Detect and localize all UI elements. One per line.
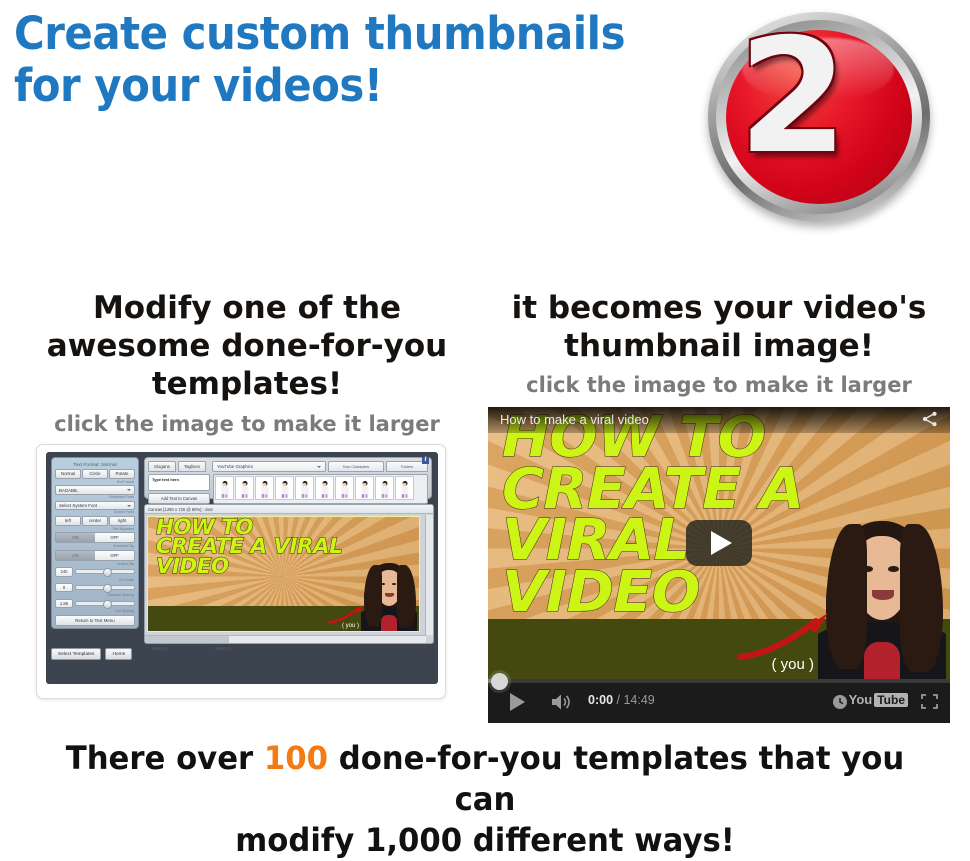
text-format-panel: Text Format: Normal Normal Circle Rotate… xyxy=(51,457,139,629)
horizontal-flip-toggle[interactable]: ON OFF xyxy=(55,532,135,543)
youtube-logo-you: You xyxy=(849,692,873,707)
toolbar-main-row: Type text here. Add Text to Canvas xyxy=(148,474,428,504)
play-triangle-icon xyxy=(711,531,732,555)
line-spacing-label: Line Spacing xyxy=(55,609,134,613)
toon-thumbnail[interactable] xyxy=(355,476,374,500)
char-spacing-knob[interactable] xyxy=(103,584,112,593)
right-column-subtext: click the image to make it larger xyxy=(486,373,952,397)
canvas-text-line-3: VIDEO xyxy=(156,557,342,576)
youtube-video-stage[interactable]: HOW TO CREATE A VIRAL VIDEO ( you ) xyxy=(488,407,950,679)
bottom-line-1: There over 100 done-for-you templates th… xyxy=(39,738,932,820)
line-spacing-knob[interactable] xyxy=(103,600,112,609)
bottom-line-2: modify 1,000 different ways! xyxy=(39,820,932,861)
software-toolbar: f Slogans Taglines YouTube Graphics Toon… xyxy=(144,457,432,499)
vertical-flip-toggle[interactable]: ON OFF xyxy=(55,550,135,561)
right-column-heading: it becomes your video's thumbnail image! xyxy=(486,290,952,366)
embedded-font-select[interactable]: BADABB.. xyxy=(55,485,135,495)
software-window[interactable]: Text Format: Normal Normal Circle Rotate… xyxy=(46,452,438,684)
embedded-font-label: Embedded Fonts xyxy=(55,495,134,499)
home-button[interactable]: Home xyxy=(105,648,132,660)
badge-number-label: 2 xyxy=(700,10,886,192)
system-font-label: System Fonts xyxy=(55,510,134,514)
horizontal-flip-label: Horizontal Flip xyxy=(55,544,134,548)
char-spacing-slider-row[interactable]: 0 xyxy=(55,583,135,592)
alignment-button-group: left center right xyxy=(55,516,135,526)
left-column-subtext: click the image to make it larger xyxy=(22,412,472,436)
text-input[interactable]: Type text here. xyxy=(148,474,210,491)
align-left-button[interactable]: left xyxy=(55,516,81,526)
time-separator: / xyxy=(613,693,623,707)
toon-thumbnail[interactable] xyxy=(275,476,294,500)
duration: 14:49 xyxy=(623,693,654,707)
add-text-to-canvas-button[interactable]: Add Text to Canvas xyxy=(148,493,210,504)
toon-thumbnail[interactable] xyxy=(235,476,254,500)
page-headline: Create custom thumbnails for your videos… xyxy=(14,8,646,112)
left-heading-line-2: awesome done-for-you xyxy=(22,328,472,366)
presenter-photo xyxy=(361,559,417,631)
volume-icon[interactable] xyxy=(550,693,572,711)
canvas-red-arrow-icon xyxy=(325,603,367,625)
vflip-on-option[interactable]: ON xyxy=(56,551,95,560)
bottom-part-1: There over xyxy=(66,739,264,777)
vertical-flip-label: Vertical Flip xyxy=(55,562,134,566)
software-status-bar: Undo: 8 Redo: 0 xyxy=(144,646,432,651)
canvas-title-bar: Canvas [1280 x 720 @ 80%] : viral xyxy=(145,505,433,514)
tab-toon-characters[interactable]: Toon Characters xyxy=(328,461,384,472)
text-scale-knob[interactable] xyxy=(103,568,112,577)
text-scale-label: Text Scale xyxy=(55,578,134,582)
canvas-you-caption: ( you ) xyxy=(342,623,359,629)
toon-character-strip[interactable] xyxy=(213,474,428,504)
return-to-text-menu-button[interactable]: Return to Text Menu xyxy=(55,615,135,626)
bottom-callout-text: There over 100 done-for-you templates th… xyxy=(39,738,932,861)
thumbnail-red-arrow-icon xyxy=(736,611,832,661)
facebook-icon[interactable]: f xyxy=(422,457,429,464)
right-heading-line-1: it becomes your video's xyxy=(486,290,952,328)
select-templates-button[interactable]: Select Templates xyxy=(51,648,101,660)
video-title: How to make a viral video xyxy=(500,412,649,427)
char-spacing-track[interactable] xyxy=(75,585,135,590)
canvas-area[interactable]: Canvas [1280 x 720 @ 80%] : viral HOW TO… xyxy=(144,504,434,644)
format-rotate-button[interactable]: Rotate xyxy=(109,469,135,479)
thumbnail-you-caption: ( you ) xyxy=(771,656,814,673)
toon-thumbnail[interactable] xyxy=(295,476,314,500)
line-spacing-value[interactable]: 1.85 xyxy=(55,599,73,608)
canvas-vertical-scrollbar[interactable] xyxy=(425,515,433,635)
toolbar-tab-strip: Slogans Taglines YouTube Graphics Toon C… xyxy=(148,461,428,472)
format-group-label: Text Format xyxy=(55,480,134,484)
text-scale-value[interactable]: 240 xyxy=(55,567,73,576)
play-overlay-button[interactable] xyxy=(686,520,752,566)
left-heading-line-1: Modify one of the xyxy=(22,290,472,328)
bottom-part-2: done-for-you templates that you can xyxy=(328,739,904,818)
right-heading-line-2: thumbnail image! xyxy=(486,328,952,366)
canvas-artwork[interactable]: HOW TO CREATE A VIRAL VIDEO ( you ) xyxy=(147,516,420,632)
char-spacing-value[interactable]: 0 xyxy=(55,583,73,592)
left-heading-line-3: templates! xyxy=(22,366,472,404)
format-circle-button[interactable]: Circle xyxy=(82,469,108,479)
text-scale-slider-row[interactable]: 240 xyxy=(55,567,135,576)
vflip-off-option[interactable]: OFF xyxy=(95,551,134,560)
tab-slogans[interactable]: Slogans xyxy=(148,461,176,472)
toon-thumbnail[interactable] xyxy=(335,476,354,500)
current-time: 0:00 xyxy=(588,693,613,707)
youtube-top-bar: How to make a viral video xyxy=(488,407,950,433)
progress-bar[interactable] xyxy=(488,679,950,683)
step-number-badge: 2 xyxy=(700,10,945,225)
align-right-button[interactable]: right xyxy=(109,516,135,526)
youtube-logo[interactable]: You Tube xyxy=(849,692,908,707)
line-spacing-track[interactable] xyxy=(75,601,135,606)
watch-later-clock-icon[interactable] xyxy=(832,694,848,710)
hflip-on-option[interactable]: ON xyxy=(56,533,95,542)
system-font-select[interactable]: Select System Font xyxy=(55,501,135,511)
fullscreen-icon[interactable] xyxy=(921,694,938,709)
bottom-highlight-number: 100 xyxy=(264,739,328,777)
format-normal-button[interactable]: Normal xyxy=(55,469,81,479)
toolbar-text-column: Type text here. Add Text to Canvas xyxy=(148,474,210,504)
headline-line-2: for your videos! xyxy=(14,60,646,112)
tab-taglines[interactable]: Taglines xyxy=(178,461,206,472)
graphics-category-dropdown[interactable]: YouTube Graphics xyxy=(212,461,326,472)
align-center-button[interactable]: center xyxy=(82,516,108,526)
undo-count: Undo: 8 xyxy=(152,646,167,651)
format-button-group: Normal Circle Rotate xyxy=(55,469,135,479)
redo-count: Redo: 0 xyxy=(215,646,230,651)
share-icon[interactable] xyxy=(922,411,938,427)
panel-title: Text Format: Normal xyxy=(55,462,135,467)
play-button[interactable] xyxy=(510,693,525,711)
youtube-logo-tube: Tube xyxy=(874,693,908,707)
canvas-headline-text: HOW TO CREATE A VIRAL VIDEO xyxy=(156,518,342,576)
toon-thumbnail[interactable] xyxy=(375,476,394,500)
left-column-heading: Modify one of the awesome done-for-you t… xyxy=(22,290,472,403)
presenter-photo xyxy=(818,511,946,679)
youtube-control-bar[interactable]: 0:00 / 14:49 You Tube xyxy=(488,679,950,723)
alignment-label: Text Alignment xyxy=(55,527,134,531)
canvas-horizontal-scrollbar[interactable] xyxy=(145,635,426,643)
hflip-off-option[interactable]: OFF xyxy=(95,533,134,542)
char-spacing-label: Character Spacing xyxy=(55,593,134,597)
line-spacing-slider-row[interactable]: 1.85 xyxy=(55,599,135,608)
progress-scrubber-handle[interactable] xyxy=(491,673,508,690)
youtube-player[interactable]: HOW TO CREATE A VIRAL VIDEO ( you ) How … xyxy=(488,407,950,723)
time-display: 0:00 / 14:49 xyxy=(588,693,655,707)
text-scale-track[interactable] xyxy=(75,569,135,574)
toon-thumbnail[interactable] xyxy=(395,476,414,500)
toon-thumbnail[interactable] xyxy=(255,476,274,500)
toon-thumbnail[interactable] xyxy=(215,476,234,500)
toon-thumbnail[interactable] xyxy=(315,476,334,500)
headline-line-1: Create custom thumbnails xyxy=(14,8,646,60)
